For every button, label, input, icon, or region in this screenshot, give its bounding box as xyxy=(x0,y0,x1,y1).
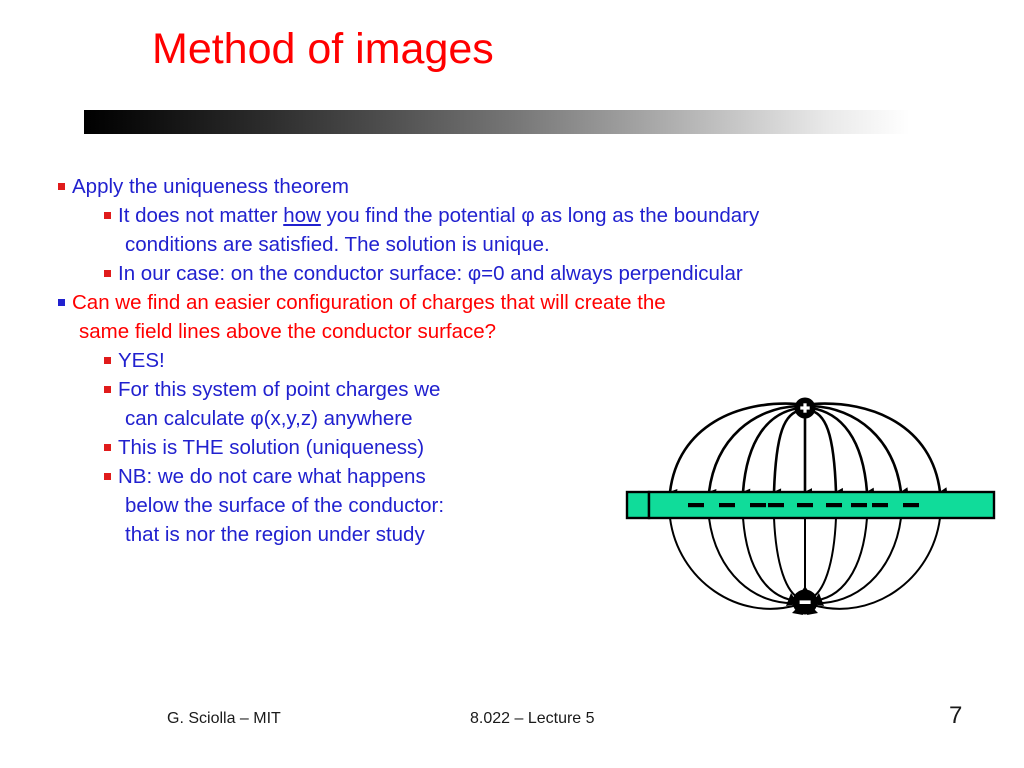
bullet-square-icon xyxy=(104,270,111,277)
bullet-square-icon xyxy=(104,212,111,219)
underlined-word: how xyxy=(283,204,321,227)
negative-charge-icon xyxy=(786,586,824,615)
bullet-square-icon xyxy=(104,444,111,451)
list-item-label: NB: we do not care what happens xyxy=(118,462,426,491)
list-item-label: In our case: on the conductor surface: φ… xyxy=(118,259,743,288)
bullet-square-icon xyxy=(58,299,65,306)
list-item-label: This is THE solution (uniqueness) xyxy=(118,433,424,462)
list-item-label: Apply the uniqueness theorem xyxy=(72,172,349,201)
bullet-square-icon xyxy=(104,386,111,393)
list-item: In our case: on the conductor surface: φ… xyxy=(58,259,938,288)
footer-course: 8.022 – Lecture 5 xyxy=(470,710,595,728)
footer-author: G. Sciolla – MIT xyxy=(167,710,281,728)
list-item: Can we find an easier configuration of c… xyxy=(58,288,938,317)
list-item-label: that is nor the region under study xyxy=(125,520,425,549)
list-item-continuation: conditions are satisfied. The solution i… xyxy=(58,230,938,259)
bullet-square-icon xyxy=(104,473,111,480)
list-item-label: For this system of point charges we xyxy=(118,375,440,404)
bullet-square-icon xyxy=(104,357,111,364)
list-item-label: same field lines above the conductor sur… xyxy=(79,317,496,346)
list-item: YES! xyxy=(58,346,938,375)
field-line-diagram xyxy=(620,388,1000,643)
list-item-label: YES! xyxy=(118,346,165,375)
positive-charge-icon xyxy=(795,398,816,419)
page-title: Method of images xyxy=(152,26,494,73)
surface-charge-marks xyxy=(688,503,919,507)
bullet-square-icon xyxy=(58,183,65,190)
page-number: 7 xyxy=(949,702,962,730)
list-item-label: conditions are satisfied. The solution i… xyxy=(125,230,550,259)
list-item-continuation: same field lines above the conductor sur… xyxy=(58,317,938,346)
text-after: you find the potential φ as long as the … xyxy=(321,204,759,227)
list-item: It does not matter how you find the pote… xyxy=(58,201,938,230)
list-item-label: can calculate φ(x,y,z) anywhere xyxy=(125,404,413,433)
gradient-divider xyxy=(84,110,910,134)
text-before: It does not matter xyxy=(118,204,283,227)
list-item: Apply the uniqueness theorem xyxy=(58,172,938,201)
list-item-label: below the surface of the conductor: xyxy=(125,491,444,520)
list-item-label: It does not matter how you find the pote… xyxy=(118,201,759,230)
list-item-label: Can we find an easier configuration of c… xyxy=(72,288,666,317)
